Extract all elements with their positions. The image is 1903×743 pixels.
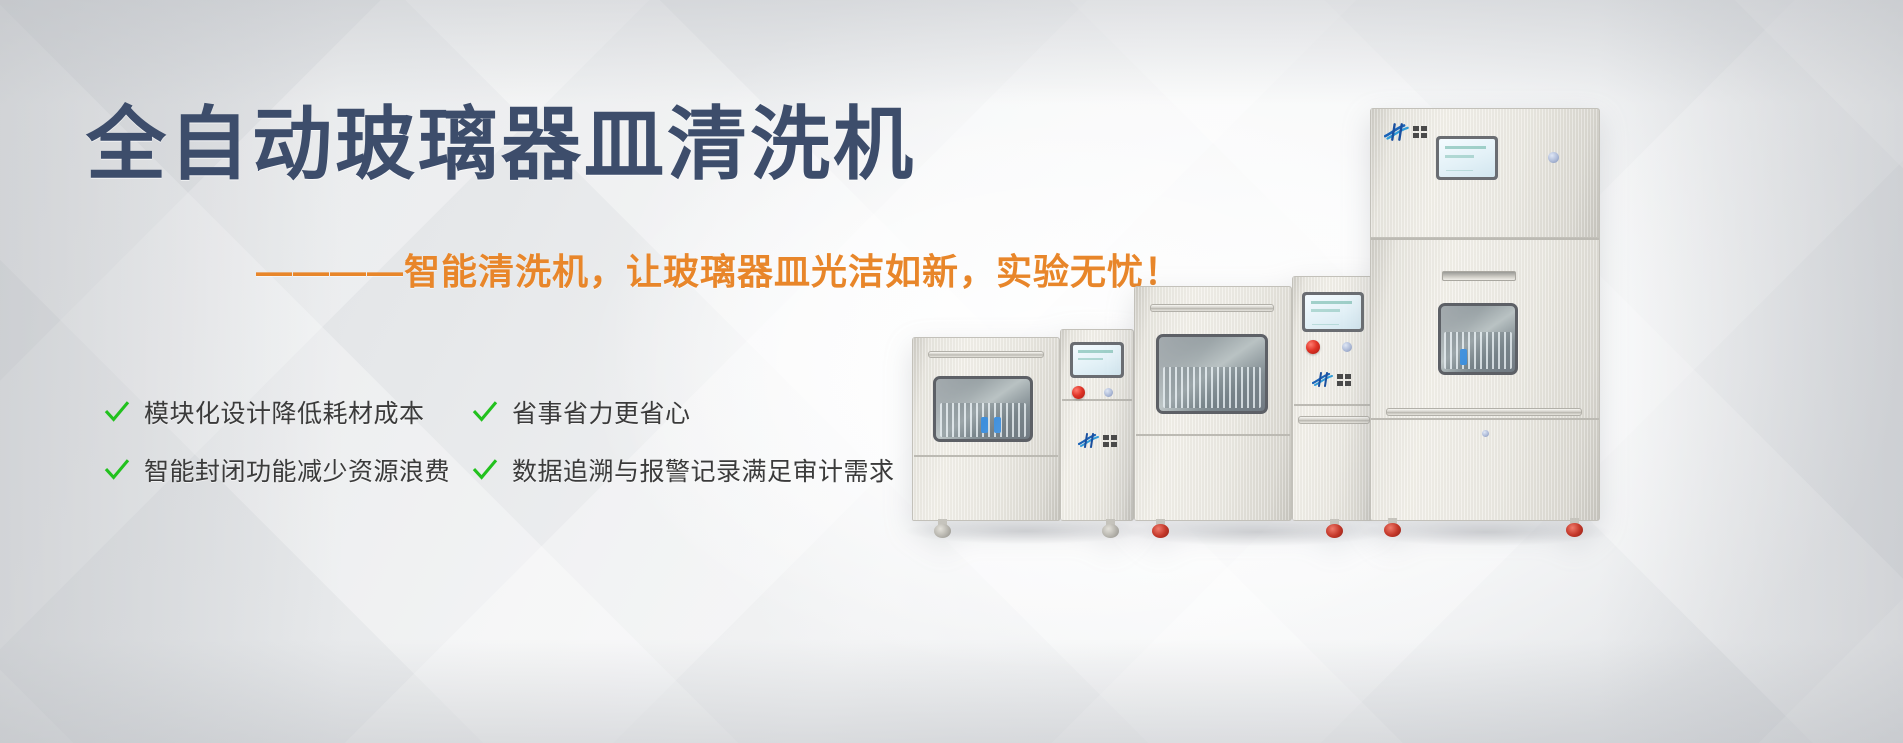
machine2-column-seam xyxy=(1294,404,1374,406)
machine2-power-button[interactable] xyxy=(1342,342,1352,352)
machine2-caster-left xyxy=(1152,519,1169,538)
machine1-caster-right xyxy=(1102,519,1119,538)
machine1-column-seam xyxy=(1062,399,1132,401)
feature-label: 数据追溯与报警记录满足审计需求 xyxy=(512,452,895,488)
machine3-viewing-window[interactable] xyxy=(1438,303,1518,375)
feature-list: 模块化设计降低耗材成本 省事省力更省心 智能封闭功能减少资源浪费 xyxy=(104,383,964,499)
check-icon xyxy=(472,457,498,483)
machine2-drawer-handle xyxy=(1298,416,1370,424)
machine2-caster-right xyxy=(1326,519,1343,538)
machine3-brand-logo xyxy=(1384,123,1427,141)
check-icon xyxy=(104,399,130,425)
machine2-touchscreen[interactable] xyxy=(1302,292,1364,332)
brand-wordmark xyxy=(1337,374,1351,386)
machine1-caster-left xyxy=(934,519,951,538)
feature-item-4: 数据追溯与报警记录满足审计需求 xyxy=(472,452,964,488)
brand-glyph-icon xyxy=(1078,433,1100,448)
machine1-brand-logo xyxy=(1078,433,1117,448)
machine1-viewing-window[interactable] xyxy=(933,376,1033,442)
product-image-group xyxy=(900,0,1903,743)
machine3-lower-door-seam xyxy=(1371,418,1599,420)
brand-glyph-icon xyxy=(1312,372,1334,387)
check-icon xyxy=(104,457,130,483)
glass-reflection xyxy=(1159,337,1265,411)
feature-item-3: 智能封闭功能减少资源浪费 xyxy=(104,452,472,488)
product-glassware-washer-tall xyxy=(1370,108,1600,529)
machine1-emergency-stop-button[interactable] xyxy=(1072,386,1085,399)
machine1-power-button[interactable] xyxy=(1104,388,1113,397)
machine3-lower-indicator xyxy=(1482,430,1489,437)
machine3-vent-slot xyxy=(1442,271,1516,281)
machine1-touchscreen[interactable] xyxy=(1070,342,1124,378)
glass-reflection xyxy=(936,379,1030,439)
machine3-cabinet-seam xyxy=(1371,238,1599,240)
machine2-emergency-stop-button[interactable] xyxy=(1306,340,1320,354)
machine2-door-seam xyxy=(1136,434,1290,436)
machine3-caster-right xyxy=(1566,518,1583,537)
product-glassware-washer-medium xyxy=(1134,276,1376,529)
brand-wordmark xyxy=(1103,435,1117,447)
feature-label: 省事省力更省心 xyxy=(512,394,691,430)
machine1-top-handle xyxy=(928,351,1044,358)
glass-reflection xyxy=(1441,306,1515,372)
machine1-door-seam xyxy=(914,455,1058,457)
lcd-display xyxy=(1439,139,1495,177)
machine3-power-button[interactable] xyxy=(1548,152,1559,163)
feature-label: 模块化设计降低耗材成本 xyxy=(144,394,425,430)
page-title: 全自动玻璃器皿清洗机 xyxy=(86,103,916,187)
machine3-touchscreen[interactable] xyxy=(1436,136,1498,180)
machine2-top-handle xyxy=(1150,304,1274,312)
feature-item-1: 模块化设计降低耗材成本 xyxy=(104,394,472,430)
feature-label: 智能封闭功能减少资源浪费 xyxy=(144,452,450,488)
brushed-steel-texture xyxy=(1371,239,1599,520)
machine2-viewing-window[interactable] xyxy=(1156,334,1268,414)
lcd-display xyxy=(1305,295,1361,329)
brand-glyph-icon xyxy=(1384,123,1410,141)
product-hero-banner: 全自动玻璃器皿清洗机 ————智能清洗机，让玻璃器皿光洁如新，实验无忧！ 模块化… xyxy=(0,0,1903,743)
machine2-brand-logo xyxy=(1312,372,1351,387)
machine3-caster-left xyxy=(1384,518,1401,537)
feature-item-2: 省事省力更省心 xyxy=(472,394,964,430)
check-icon xyxy=(472,399,498,425)
brand-wordmark xyxy=(1413,126,1427,138)
machine3-lower-handle xyxy=(1386,408,1582,416)
lcd-display xyxy=(1073,345,1121,375)
product-glassware-washer-small xyxy=(912,329,1134,529)
